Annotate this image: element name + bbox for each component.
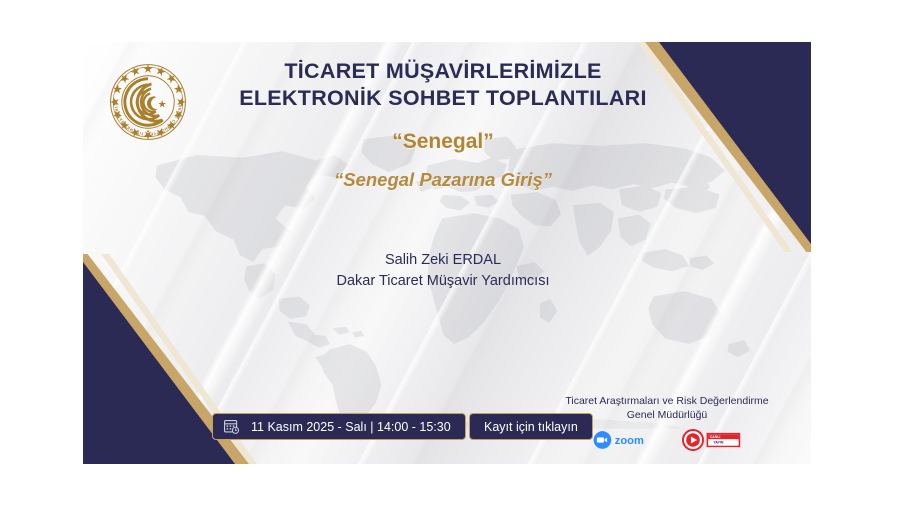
organizer-block: Ticaret Araştırmaları ve Risk Değerlendi…	[537, 394, 797, 451]
poster-title: TİCARET MÜŞAVİRLERİMİZLE ELEKTRONİK SOHB…	[203, 58, 683, 112]
event-date-text: 11 Kasım 2025 - Salı | 14:00 - 15:30	[251, 420, 451, 434]
play-button-logo: CANLI YAYIN	[682, 429, 742, 451]
svg-text:zoom: zoom	[614, 435, 643, 447]
speaker-title: Dakar Ticaret Müşavir Yardımcısı	[203, 271, 683, 292]
subject-heading: “Senegal Pazarına Giriş”	[183, 169, 703, 191]
platform-logos: zoom CANLI YAYIN	[537, 429, 797, 451]
speaker-name: Salih Zeki ERDAL	[203, 250, 683, 271]
organizer-line-1: Ticaret Araştırmaları ve Risk Değerlendi…	[537, 394, 797, 408]
country-heading: “Senegal”	[203, 130, 683, 154]
svg-text:YAYIN: YAYIN	[713, 441, 723, 445]
svg-text:CANLI: CANLI	[710, 435, 721, 439]
title-line-2: ELEKTRONİK SOHBET TOPLANTILARI	[203, 85, 683, 112]
title-line-1: TİCARET MÜŞAVİRLERİMİZLE	[203, 58, 683, 85]
event-date-pill: 11 Kasım 2025 - Salı | 14:00 - 15:30	[212, 413, 466, 440]
ministry-seal-logo: TÜRKİYE CUMHURİYETİ TİCARET BAKANLIĞI	[105, 59, 191, 145]
organizer-line-2: Genel Müdürlüğü	[537, 408, 797, 422]
event-poster: TÜRKİYE CUMHURİYETİ TİCARET BAKANLIĞI Tİ…	[83, 42, 811, 464]
zoom-logo: zoom	[593, 430, 662, 450]
calendar-clock-icon	[223, 418, 240, 435]
speaker-block: Salih Zeki ERDAL Dakar Ticaret Müşavir Y…	[203, 250, 683, 292]
